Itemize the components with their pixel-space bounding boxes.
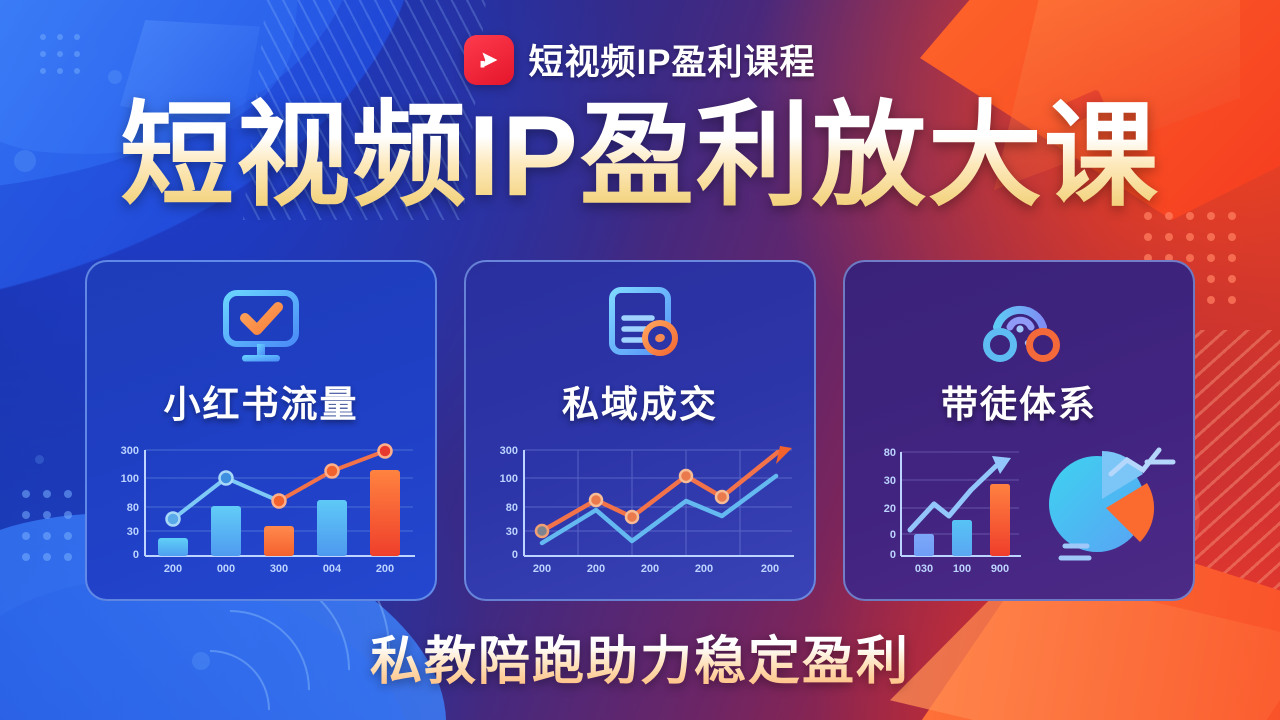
chart-private-domain-deal: 300 100 80 30 0 200	[480, 438, 800, 578]
svg-text:200: 200	[761, 563, 779, 575]
card-title: 私域成交	[562, 374, 718, 428]
feature-card-private-domain-deal[interactable]: 私域成交 300 100	[464, 260, 816, 601]
svg-text:100: 100	[500, 473, 518, 485]
network-bubbles-icon	[971, 284, 1067, 370]
chart-apprentice-system: 80 30 20 0 0 030 100 900	[859, 438, 1179, 578]
svg-text:200: 200	[587, 563, 605, 575]
header-title: 短视频IP盈利课程	[528, 34, 815, 85]
svg-text:80: 80	[884, 447, 896, 459]
svg-text:0: 0	[133, 549, 139, 561]
monitor-check-icon	[215, 284, 307, 370]
svg-text:030: 030	[915, 563, 933, 575]
chart-xiaohongshu-traffic: 300 100 80 30 0	[101, 438, 421, 578]
svg-text:200: 200	[533, 563, 551, 575]
svg-text:30: 30	[506, 526, 518, 538]
svg-text:300: 300	[500, 445, 518, 457]
svg-text:20: 20	[884, 503, 896, 515]
svg-text:30: 30	[127, 526, 139, 538]
card-title: 小红书流量	[164, 374, 359, 428]
play-arrow-icon	[474, 45, 504, 75]
svg-text:200: 200	[695, 563, 713, 575]
svg-text:0: 0	[512, 549, 518, 561]
svg-text:000: 000	[217, 563, 235, 575]
svg-text:200: 200	[376, 563, 394, 575]
svg-text:200: 200	[641, 563, 659, 575]
poster-canvas: 短视频IP盈利课程 短视频IP盈利放大课	[0, 0, 1280, 720]
svg-text:004: 004	[323, 563, 342, 575]
svg-text:0: 0	[890, 529, 896, 541]
svg-text:100: 100	[121, 473, 139, 485]
svg-text:80: 80	[506, 502, 518, 514]
svg-text:300: 300	[121, 445, 139, 457]
svg-text:300: 300	[270, 563, 288, 575]
card-title: 带徒体系	[941, 374, 1097, 428]
svg-text:0: 0	[890, 549, 896, 561]
svg-text:100: 100	[953, 563, 971, 575]
svg-text:30: 30	[884, 475, 896, 487]
feature-card-xiaohongshu-traffic[interactable]: 小红书流量	[85, 260, 437, 601]
feature-card-apprentice-system[interactable]: 带徒体系	[843, 260, 1195, 601]
svg-text:80: 80	[127, 502, 139, 514]
brand-logo	[464, 35, 514, 85]
page-title: 短视频IP盈利放大课	[0, 95, 1280, 218]
header-bar: 短视频IP盈利课程	[0, 34, 1280, 85]
feature-card-list: 小红书流量	[0, 260, 1280, 601]
document-badge-icon	[594, 284, 686, 370]
svg-text:200: 200	[164, 563, 182, 575]
svg-text:900: 900	[991, 563, 1009, 575]
footer-tagline: 私教陪跑助力稳定盈利	[0, 619, 1280, 694]
